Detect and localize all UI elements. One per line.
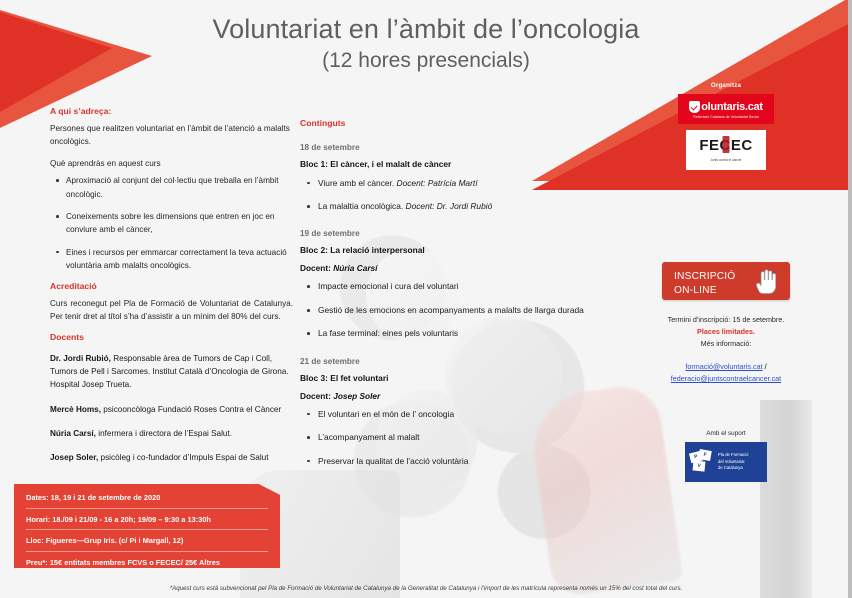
footer-note: *Aquest curs està subvencionat pel Pla d… (0, 585, 852, 592)
teacher-entry: Núria Carsí, infermera i directora de l’… (50, 427, 293, 440)
item-text: La malaltia oncològica. (318, 201, 406, 211)
voluntaris-logo: oluntaris.cat Federació Catalana de Volu… (678, 94, 774, 124)
teacher-role: infermera i directora de l’Espai Salut. (96, 429, 232, 438)
block-items: Impacte emocional i cura del voluntari G… (300, 280, 590, 340)
audience-heading: A qui s’adreça: (50, 106, 293, 118)
voluntaris-logo-text: oluntaris.cat (701, 101, 763, 113)
teacher-entry: Dr. Jordi Rubió, Responsable àrea de Tum… (50, 352, 293, 392)
docent-name: Núria Carsí (333, 263, 377, 273)
deadline-text: Termini d’inscripció: 15 de setembre. (600, 314, 852, 326)
teacher-name: Dr. Jordi Rubió, (50, 354, 111, 363)
teacher-name: Mercè Homs, (50, 405, 101, 414)
organizer-label: Organitza (600, 82, 852, 89)
right-column: Organitza oluntaris.cat Federació Catala… (600, 82, 852, 482)
docent-name: Josep Soler (333, 391, 380, 401)
teacher-name: Núria Carsí, (50, 429, 96, 438)
docent-label: Docent: (300, 391, 333, 401)
pla-cards-icon: P F V (690, 450, 714, 474)
pla-formacio-logo: P F V Pla de Formació del Voluntariat de… (685, 442, 767, 482)
pla-logo-text: Pla de Formació del Voluntariat de Catal… (718, 452, 749, 471)
list-item: La fase terminal: eines pels voluntaris (318, 327, 590, 340)
check-shield-icon (689, 101, 700, 113)
block-items: El voluntari en el món de l’ oncologia L… (300, 408, 590, 468)
pla-card-3: V (693, 460, 706, 471)
pla-line-3: de Catalunya (718, 465, 749, 471)
email-line-1: formació@voluntaris.cat / (600, 361, 852, 374)
page-subtitle: (12 hores presencials) (0, 49, 852, 73)
middle-column: Continguts 18 de setembre Bloc 1: El càn… (300, 118, 590, 484)
detail-dates: Dates: 18, 19 i 21 de setembre de 2020 (26, 493, 268, 509)
poster-header: Voluntariat en l’àmbit de l’oncologia (1… (0, 14, 852, 73)
list-item: Preservar la qualitat de l’acció voluntà… (318, 455, 590, 468)
list-item: Gestió de les emocions en acompanyaments… (318, 304, 590, 317)
list-item: Aproximació al conjunt del col·lectiu qu… (66, 174, 293, 201)
teacher-role: psicooncòloga Fundació Roses Contra el C… (101, 405, 281, 414)
contents-heading: Continguts (300, 118, 590, 130)
list-item: Impacte emocional i cura del voluntari (318, 280, 590, 293)
button-line-2: ON-LINE (674, 285, 717, 296)
block-day: 18 de setembre (300, 143, 590, 152)
list-item: La malaltia oncològica. Docent: Dr. Jord… (318, 200, 590, 213)
teacher-name: Josep Soler, (50, 453, 98, 462)
block-items: Viure amb el càncer. Docent: Patrícia Ma… (300, 177, 590, 214)
learn-heading: Què aprendràs en aquest curs (50, 157, 293, 170)
pla-card-2: F (698, 449, 712, 461)
block-title: Bloc 3: El fet voluntari (300, 373, 590, 383)
course-details-box: Dates: 18, 19 i 21 de setembre de 2020 H… (14, 484, 280, 568)
page-title: Voluntariat en l’àmbit de l’oncologia (0, 14, 852, 45)
pointing-hand-icon (755, 269, 777, 295)
fecec-logo-subtitle: Junts contra el càncer (686, 158, 766, 162)
item-text: Viure amb el càncer. (318, 178, 397, 188)
email-link-federacio[interactable]: federacio@juntscontraelcancer.cat (671, 374, 781, 383)
fecec-logo-text: FECEC (699, 138, 752, 153)
fecec-logo: FECEC Junts contra el càncer (686, 130, 766, 170)
docent-label: Docent: (300, 263, 333, 273)
button-line-1: INSCRIPCIÓ (674, 271, 735, 282)
teacher-role: psicòleg i co-fundador d’Impuls Espai de… (98, 453, 268, 462)
content-block: 21 de setembre Bloc 3: El fet voluntari … (300, 357, 590, 468)
voluntaris-logo-subtitle: Federació Catalana de Voluntariat Social (684, 115, 768, 119)
list-item: Viure amb el càncer. Docent: Patrícia Ma… (318, 177, 590, 190)
detail-location: Lloc: Figueres—Grup Iris. (c/ Pi i Marga… (26, 530, 268, 552)
teacher-entry: Mercè Homs, psicooncòloga Fundació Roses… (50, 403, 293, 416)
content-block: 18 de setembre Bloc 1: El càncer, i el m… (300, 143, 590, 214)
block-title: Bloc 1: El càncer, i el malalt de càncer (300, 159, 590, 169)
email-line-2: federacio@juntscontraelcancer.cat (600, 373, 852, 386)
block-day: 21 de setembre (300, 357, 590, 366)
places-limited-text: Places limitades. (600, 326, 852, 338)
teachers-heading: Docents (50, 332, 293, 344)
accreditation-heading: Acreditació (50, 281, 293, 293)
fecec-bar-icon (723, 136, 730, 153)
list-item: El voluntari en el món de l’ oncologia (318, 408, 590, 421)
block-day: 19 de setembre (300, 229, 590, 238)
inscription-online-button[interactable]: INSCRIPCIÓON-LINE (662, 262, 790, 300)
list-item: Eines i recursos per emmarcar correctame… (66, 246, 293, 273)
block-docent: Docent: Josep Soler (300, 391, 590, 401)
item-docent: Docent: Patrícia Martí (397, 178, 478, 188)
email-link-formacio[interactable]: formació@voluntaris.cat (685, 362, 762, 371)
block-docent: Docent: Núria Carsí (300, 263, 590, 273)
email-separator: / (763, 362, 767, 371)
more-info-text: Més informació: (600, 338, 852, 350)
registration-info: Termini d’inscripció: 15 de setembre. Pl… (600, 314, 852, 351)
accreditation-text: Curs reconegut pel Pla de Formació de Vo… (50, 297, 293, 324)
block-title: Bloc 2: La relació interpersonal (300, 245, 590, 255)
poster-page: Voluntariat en l’àmbit de l’oncologia (1… (0, 0, 852, 598)
detail-price: Preu*: 15€ entitats membres FCVS o FECEC… (26, 552, 268, 574)
list-item: Coneixements sobre les dimensions que en… (66, 210, 293, 237)
content-block: 19 de setembre Bloc 2: La relació interp… (300, 229, 590, 340)
audience-text: Persones que realitzen voluntariat en l’… (50, 122, 293, 149)
inscription-button-label: INSCRIPCIÓON-LINE (674, 270, 735, 298)
support-label: Amb el suport (600, 430, 852, 437)
contact-emails: formació@voluntaris.cat / federacio@junt… (600, 361, 852, 386)
left-column: A qui s’adreça: Persones que realitzen v… (50, 106, 293, 476)
list-item: L’acompanyament al malalt (318, 431, 590, 444)
pla-line-1: Pla de Formació (718, 452, 749, 458)
learn-list: Aproximació al conjunt del col·lectiu qu… (50, 174, 293, 272)
teacher-entry: Josep Soler, psicòleg i co-fundador d’Im… (50, 451, 293, 464)
detail-schedule: Horari: 18./09 i 21/09 - 16 a 20h; 19/09… (26, 509, 268, 531)
item-docent: Docent: Dr. Jordi Rubió (406, 201, 493, 211)
